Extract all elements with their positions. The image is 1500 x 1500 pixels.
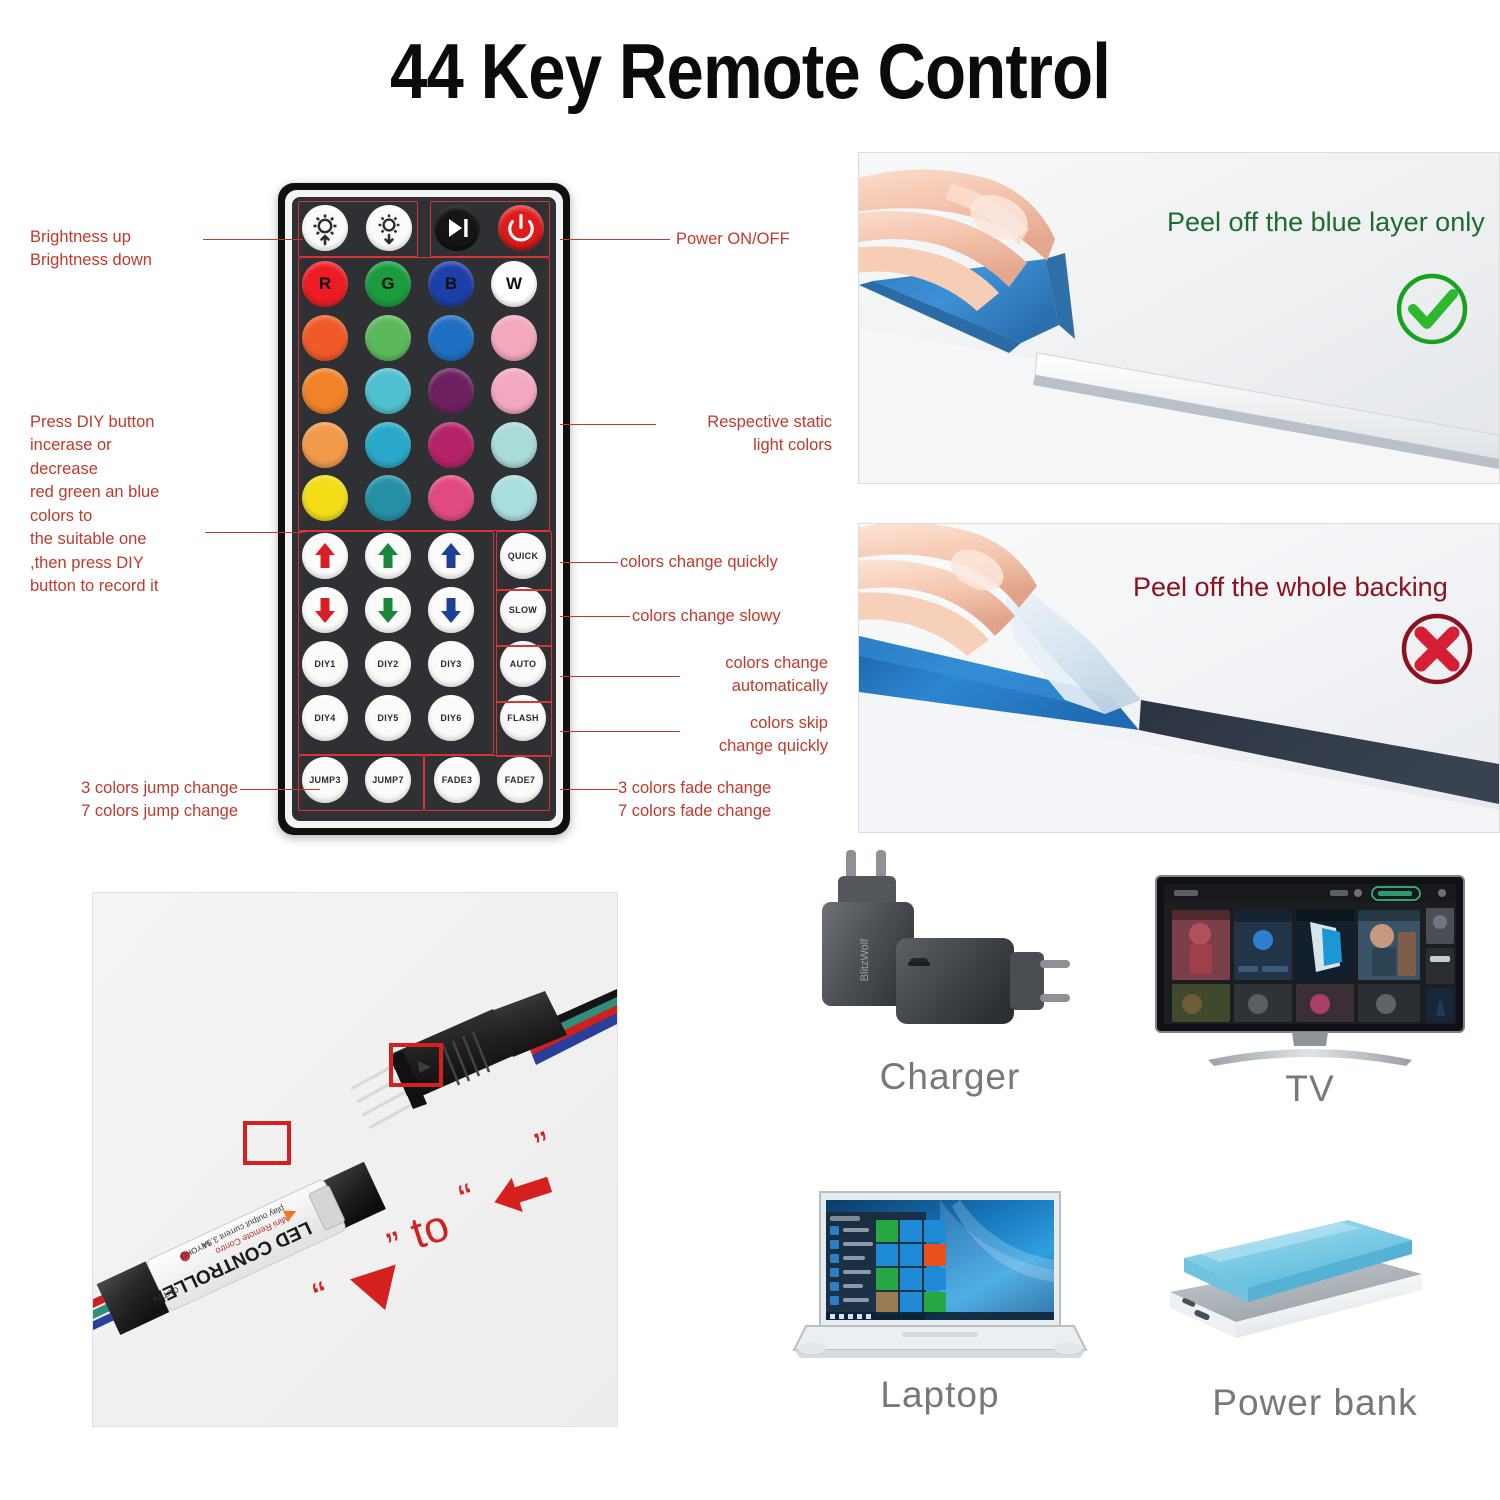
leader-quick [560, 562, 618, 563]
color-button-r5-c3[interactable] [428, 475, 474, 521]
mode-button-label: AUTO [500, 659, 546, 669]
diy-button-label: DIY1 [302, 659, 348, 669]
diy-button-diy3[interactable]: DIY3 [428, 641, 474, 687]
charger-icon: BlitzWolf [800, 842, 1100, 1072]
green-down-arrow-icon [365, 587, 411, 633]
green-up-arrow-icon [365, 533, 411, 579]
leader-static-colors [560, 424, 656, 425]
color-button-r3-c4[interactable] [491, 368, 537, 414]
arrow-button-green-down-arrow[interactable] [365, 587, 411, 633]
bottom-button-label: JUMP3 [302, 775, 348, 785]
color-button-label: G [365, 274, 411, 294]
tv-hero-tiles [1172, 910, 1420, 980]
charger-front-unit [896, 938, 1070, 1024]
tv-side-tiles [1426, 908, 1454, 1022]
device-power-bank: Power bank [1160, 1196, 1470, 1411]
annotation-diy: Press DIY button incerase or decrease re… [30, 411, 159, 598]
diy-button-label: DIY6 [428, 713, 474, 723]
mode-button-label: SLOW [500, 605, 546, 615]
color-button-r5-c1[interactable] [302, 475, 348, 521]
laptop-caption: Laptop [790, 1374, 1090, 1416]
device-charger: BlitzWolf Charger [800, 842, 1100, 1072]
arrow-button-red-down-arrow[interactable] [302, 587, 348, 633]
photo-top-caption: Peel off the blue layer only [1167, 207, 1485, 237]
power-button[interactable] [498, 205, 544, 251]
peel-blue-illustration: Peel off the blue layer only [859, 153, 1499, 483]
diy-button-diy4[interactable]: DIY4 [302, 695, 348, 741]
bottom-button-fade7[interactable]: FADE7 [497, 757, 543, 803]
color-button-label: R [302, 274, 348, 294]
tv-icon [1150, 870, 1470, 1085]
diy-button-diy2[interactable]: DIY2 [365, 641, 411, 687]
color-button-label: W [491, 274, 537, 294]
color-button-r2-c4[interactable] [491, 315, 537, 361]
color-button-r4-c3[interactable] [428, 422, 474, 468]
page-title: 44 Key Remote Control [105, 26, 1395, 117]
photo-peel-blue-layer: Peel off the blue layer only [858, 152, 1500, 484]
controller-photo-panel: LED CONTROLLER Mini Remote Contro play o… [92, 892, 618, 1427]
diy-button-label: DIY5 [365, 713, 411, 723]
color-button-r2-c2[interactable] [365, 315, 411, 361]
diy-button-diy5[interactable]: DIY5 [365, 695, 411, 741]
diy-button-diy6[interactable]: DIY6 [428, 695, 474, 741]
power-bank-caption: Power bank [1160, 1382, 1470, 1424]
color-button-r[interactable]: R [302, 261, 348, 307]
mode-button-slow[interactable]: SLOW [500, 587, 546, 633]
color-button-r3-c1[interactable] [302, 368, 348, 414]
bottom-button-label: FADE3 [434, 775, 480, 785]
arrow-button-blue-up-arrow[interactable] [428, 533, 474, 579]
annotation-auto: colors change automatically [610, 652, 828, 699]
arrow-diy-block: DIY1DIY2DIY3DIY4DIY5DIY6 [298, 531, 494, 751]
leader-jump [240, 789, 320, 790]
annotation-jump: 3 colors jump change 7 colors jump chang… [0, 777, 238, 824]
device-tv: TV [1150, 870, 1470, 1085]
arrow-button-green-up-arrow[interactable] [365, 533, 411, 579]
arrow-button-blue-down-arrow[interactable] [428, 587, 474, 633]
bottom-button-label: FADE7 [497, 775, 543, 785]
color-button-b[interactable]: B [428, 261, 474, 307]
color-button-r4-c2[interactable] [365, 422, 411, 468]
color-button-r3-c3[interactable] [428, 368, 474, 414]
brightness-down-icon [366, 205, 412, 251]
leader-brightness [203, 239, 303, 240]
annotation-slow: colors change slowy [632, 605, 781, 628]
color-button-r2-c3[interactable] [428, 315, 474, 361]
remote-control: RGBW DIY1DIY2DIY3DIY4DIY5DIY6 QUICKSLOWA… [278, 183, 570, 835]
charger-caption: Charger [800, 1056, 1100, 1098]
peel-backing-illustration: Peel off the whole backing [859, 524, 1499, 832]
annotation-fade: 3 colors fade change 7 colors fade chang… [618, 777, 771, 824]
blue-up-arrow-icon [428, 533, 474, 579]
arrow-button-red-up-arrow[interactable] [302, 533, 348, 579]
color-button-label: B [428, 274, 474, 294]
bottom-button-jump7[interactable]: JUMP7 [365, 757, 411, 803]
mode-button-auto[interactable]: AUTO [500, 641, 546, 687]
annotation-brightness: Brightness up Brightness down [30, 226, 152, 273]
blue-down-arrow-icon [428, 587, 474, 633]
color-button-w[interactable]: W [491, 261, 537, 307]
start-menu [826, 1212, 946, 1320]
tv-caption: TV [1150, 1068, 1470, 1110]
brightness-down-button[interactable] [366, 205, 412, 251]
play-pause-button[interactable] [434, 205, 480, 251]
color-button-r3-c2[interactable] [365, 368, 411, 414]
diy-button-label: DIY3 [428, 659, 474, 669]
brightness-up-icon [302, 205, 348, 251]
photo-peel-whole-backing: Peel off the whole backing [858, 523, 1500, 833]
diy-button-label: DIY2 [365, 659, 411, 669]
annotation-power: Power ON/OFF [676, 228, 790, 251]
charger-brand-back: BlitzWolf [859, 938, 871, 982]
controller-illustration: LED CONTROLLER Mini Remote Contro play o… [93, 893, 617, 1426]
bottom-button-fade3[interactable]: FADE3 [434, 757, 480, 803]
color-button-r5-c4[interactable] [491, 475, 537, 521]
bottom-button-label: JUMP7 [365, 775, 411, 785]
annotation-static-colors: Respective static light colors [652, 411, 832, 458]
color-button-r4-c1[interactable] [302, 422, 348, 468]
mode-button-label: FLASH [500, 713, 546, 723]
jump-fade-row: JUMP3JUMP7FADE3FADE7 [298, 755, 550, 809]
play-pause-icon [434, 205, 480, 251]
photo-bottom-caption: Peel off the whole backing [1133, 572, 1448, 602]
mode-button-label: QUICK [500, 551, 546, 561]
annotation-quick: colors change quickly [620, 551, 778, 574]
color-button-r5-c2[interactable] [365, 475, 411, 521]
color-button-grid: RGBW [298, 259, 550, 527]
bottom-button-jump3[interactable]: JUMP3 [302, 757, 348, 803]
leader-fade [560, 789, 618, 790]
mode-button-quick[interactable]: QUICK [500, 533, 546, 579]
color-button-g[interactable]: G [365, 261, 411, 307]
remote-face: RGBW DIY1DIY2DIY3DIY4DIY5DIY6 QUICKSLOWA… [292, 197, 556, 821]
leader-diy [205, 532, 305, 533]
leader-power [560, 239, 670, 240]
color-button-r4-c4[interactable] [491, 422, 537, 468]
annotation-flash: colors skip change quickly [610, 712, 828, 759]
mode-button-column: QUICKSLOWAUTOFLASH [498, 531, 550, 751]
diy-button-label: DIY4 [302, 713, 348, 723]
color-button-r2-c1[interactable] [302, 315, 348, 361]
red-up-arrow-icon [302, 533, 348, 579]
infographic-page: 44 Key Remote Control [0, 0, 1500, 1500]
red-down-arrow-icon [302, 587, 348, 633]
power-icon [498, 205, 544, 251]
diy-button-diy1[interactable]: DIY1 [302, 641, 348, 687]
brightness-up-button[interactable] [302, 205, 348, 251]
tv-bottom-tiles [1172, 984, 1420, 1022]
leader-slow [560, 616, 630, 617]
device-laptop: Laptop [790, 1186, 1090, 1411]
mode-button-flash[interactable]: FLASH [500, 695, 546, 741]
power-bank-icon [1160, 1196, 1470, 1411]
